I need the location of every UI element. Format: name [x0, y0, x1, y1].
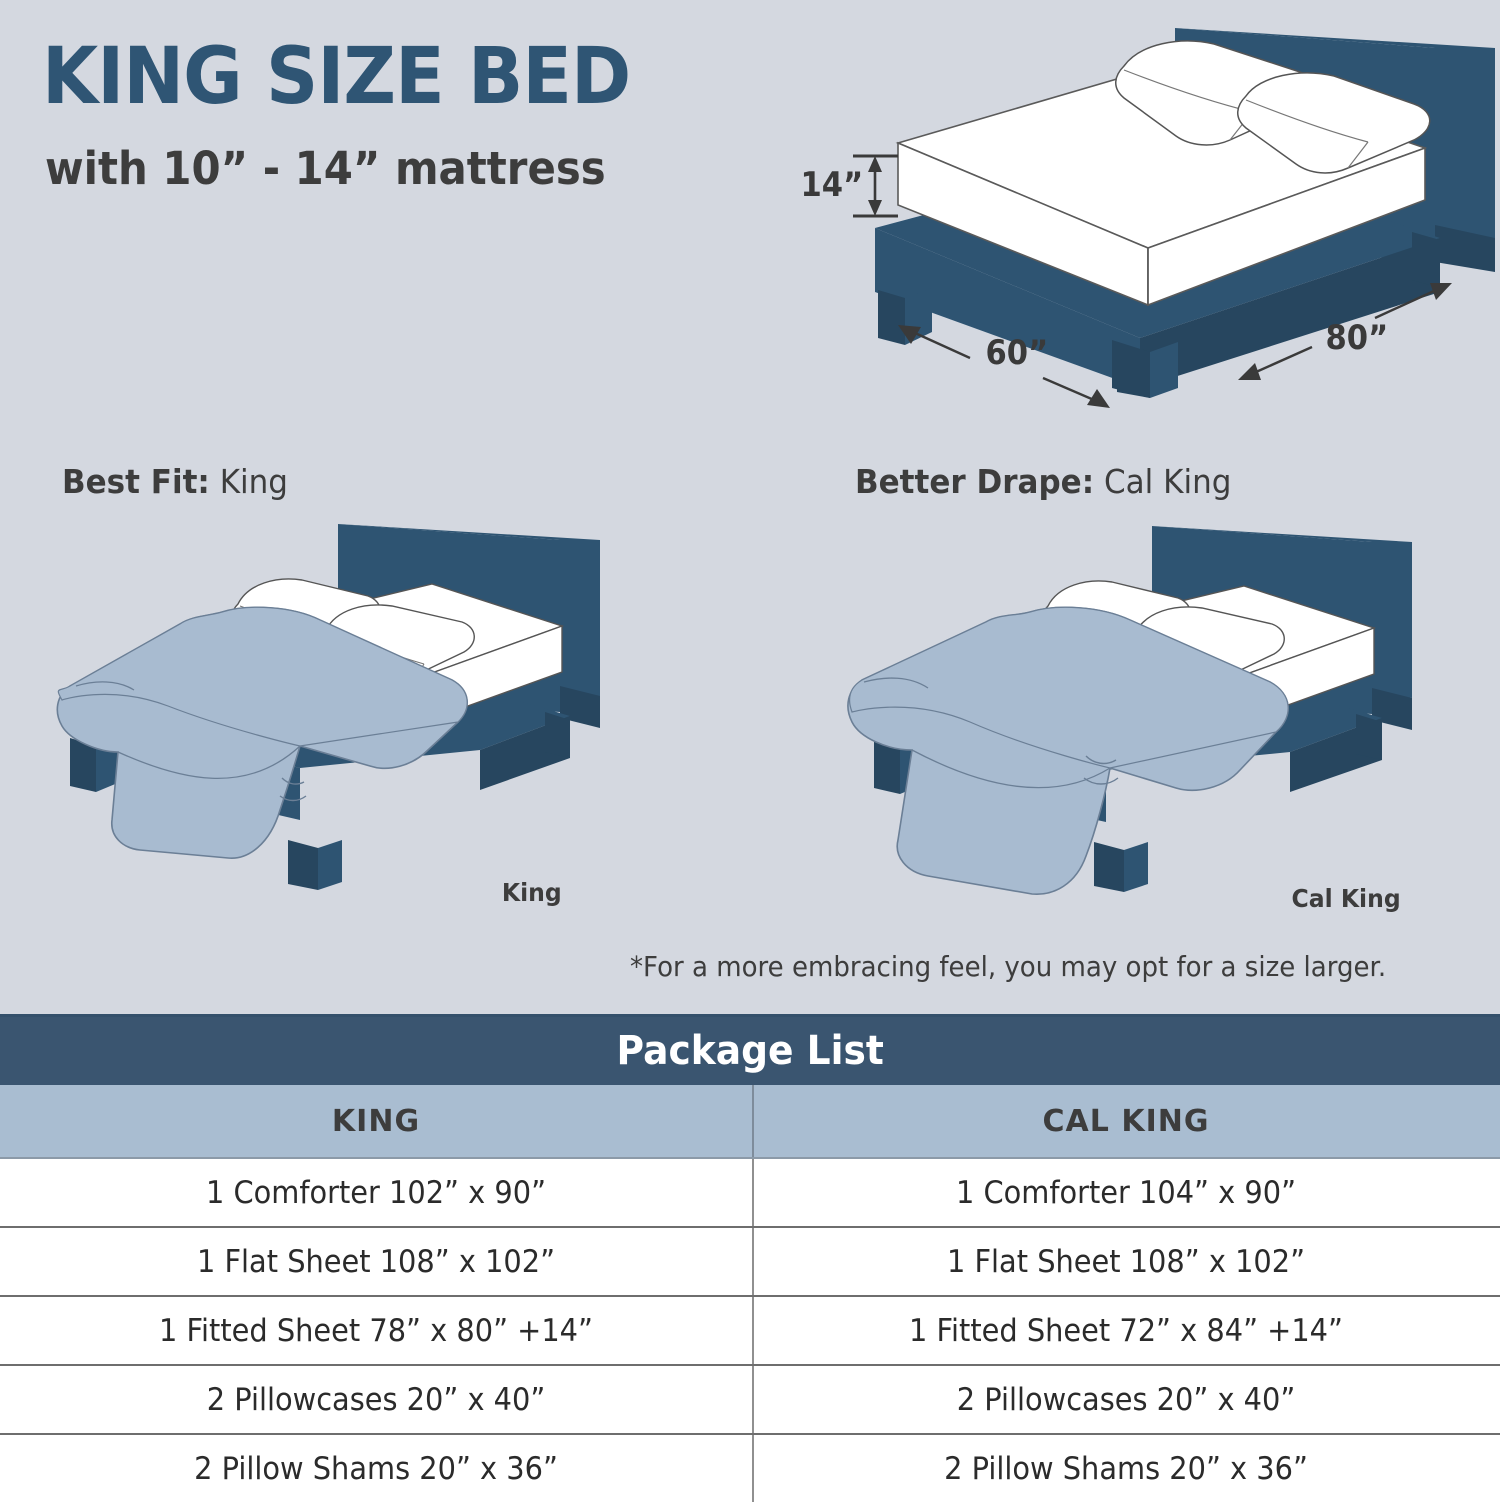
- better-drape-label-value: Cal King: [1094, 462, 1231, 501]
- cell-king-pillow-shams: 2 Pillow Shams 20” x 36”: [26, 1435, 725, 1502]
- cell-calking-pillowcases: 2 Pillowcases 20” x 40”: [778, 1366, 1474, 1433]
- package-list-table: Package List KING CAL KING 1 Comforter 1…: [0, 1014, 1500, 1502]
- cell-calking-pillow-shams: 2 Pillow Shams 20” x 36”: [778, 1435, 1474, 1502]
- cal-king-bed-illustration: [800, 500, 1500, 900]
- table-row: 1 Comforter 102” x 90” 1 Comforter 104” …: [0, 1159, 1500, 1228]
- cal-king-bed-caption: Cal King: [1291, 884, 1400, 913]
- better-drape-label-bold: Better Drape:: [855, 462, 1094, 501]
- column-header-king: KING: [0, 1085, 752, 1157]
- cell-king-fitted-sheet: 1 Fitted Sheet 78” x 80” +14”: [26, 1297, 725, 1364]
- best-fit-label: Best Fit: King: [62, 462, 288, 501]
- dimension-label-height: 14”: [800, 165, 863, 205]
- dimension-label-width: 60”: [985, 333, 1048, 373]
- footnote-text: *For a more embracing feel, you may opt …: [630, 950, 1386, 983]
- header-column-divider: [752, 1085, 754, 1157]
- table-row: 2 Pillow Shams 20” x 36” 2 Pillow Shams …: [0, 1435, 1500, 1502]
- king-bed-caption: King: [502, 878, 562, 907]
- cell-king-pillowcases: 2 Pillowcases 20” x 40”: [26, 1366, 725, 1433]
- package-list-title: Package List: [616, 1028, 883, 1074]
- package-list-title-band: Package List: [0, 1014, 1500, 1085]
- dimension-label-length: 80”: [1325, 318, 1388, 358]
- table-row: 1 Flat Sheet 108” x 102” 1 Flat Sheet 10…: [0, 1228, 1500, 1297]
- cell-calking-fitted-sheet: 1 Fitted Sheet 72” x 84” +14”: [778, 1297, 1474, 1364]
- cell-king-flat-sheet: 1 Flat Sheet 108” x 102”: [26, 1228, 725, 1295]
- package-list-rows: 1 Comforter 102” x 90” 1 Comforter 104” …: [0, 1159, 1500, 1502]
- cell-calking-comforter: 1 Comforter 104” x 90”: [778, 1159, 1474, 1226]
- package-list-column-headers: KING CAL KING: [0, 1085, 1500, 1159]
- table-row: 2 Pillowcases 20” x 40” 2 Pillowcases 20…: [0, 1366, 1500, 1435]
- column-header-cal-king: CAL KING: [752, 1085, 1500, 1157]
- best-fit-label-value: King: [210, 462, 288, 501]
- king-bed-illustration: [0, 500, 700, 900]
- infographic-page: KING SIZE BED with 10” - 14” mattress: [0, 0, 1500, 1500]
- best-fit-label-bold: Best Fit:: [62, 462, 210, 501]
- hero-bed-illustration: [0, 0, 1500, 430]
- cell-calking-flat-sheet: 1 Flat Sheet 108” x 102”: [778, 1228, 1474, 1295]
- better-drape-label: Better Drape: Cal King: [855, 462, 1231, 501]
- cell-king-comforter: 1 Comforter 102” x 90”: [26, 1159, 725, 1226]
- table-row: 1 Fitted Sheet 78” x 80” +14” 1 Fitted S…: [0, 1297, 1500, 1366]
